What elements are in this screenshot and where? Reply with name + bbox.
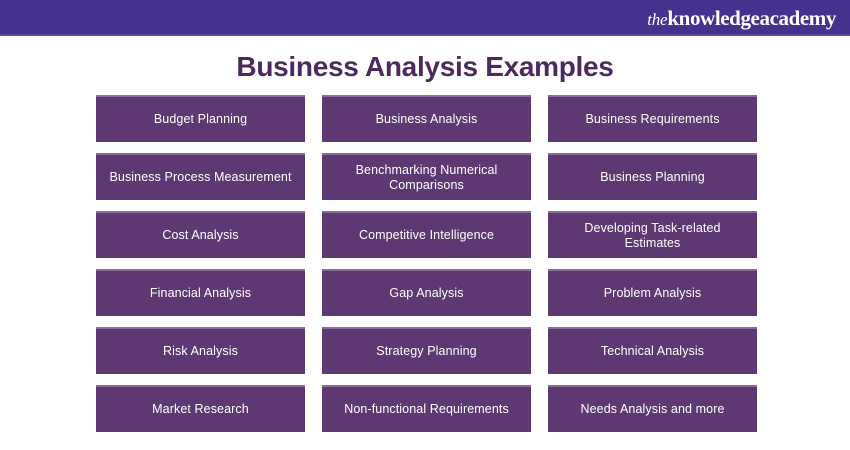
grid-cell: Gap Analysis bbox=[322, 269, 531, 316]
infographic-page: theknowledgeacademy Business Analysis Ex… bbox=[0, 0, 850, 450]
grid-row: Risk Analysis Strategy Planning Technica… bbox=[96, 327, 754, 374]
grid-cell-label: Needs Analysis and more bbox=[580, 402, 724, 417]
grid-cell-label: Budget Planning bbox=[154, 112, 247, 127]
grid-cell-label: Business Process Measurement bbox=[109, 170, 291, 185]
grid-cell-label: Cost Analysis bbox=[162, 228, 238, 243]
grid-cell: Business Requirements bbox=[548, 95, 757, 142]
page-title: Business Analysis Examples bbox=[0, 50, 850, 84]
header-bar: theknowledgeacademy bbox=[0, 0, 850, 36]
grid-cell: Market Research bbox=[96, 385, 305, 432]
brand-logo-word-academy: academy bbox=[759, 8, 836, 29]
grid-cell-label: Non-functional Requirements bbox=[344, 402, 509, 417]
grid-cell: Benchmarking Numerical Comparisons bbox=[322, 153, 531, 200]
grid-row: Budget Planning Business Analysis Busine… bbox=[96, 95, 754, 142]
grid-cell-label: Technical Analysis bbox=[601, 344, 704, 359]
grid-cell-label: Business Requirements bbox=[585, 112, 719, 127]
grid-cell: Needs Analysis and more bbox=[548, 385, 757, 432]
grid-cell-label: Competitive Intelligence bbox=[359, 228, 494, 243]
grid-cell: Risk Analysis bbox=[96, 327, 305, 374]
grid-cell: Problem Analysis bbox=[548, 269, 757, 316]
grid-cell-label: Developing Task-related Estimates bbox=[556, 221, 749, 251]
grid-cell: Business Process Measurement bbox=[96, 153, 305, 200]
brand-logo: theknowledgeacademy bbox=[647, 8, 836, 29]
examples-grid: Budget Planning Business Analysis Busine… bbox=[96, 95, 754, 432]
grid-cell: Business Analysis bbox=[322, 95, 531, 142]
grid-cell-label: Business Analysis bbox=[376, 112, 478, 127]
grid-cell-label: Business Planning bbox=[600, 170, 705, 185]
grid-cell: Financial Analysis bbox=[96, 269, 305, 316]
brand-logo-word-knowledge: knowledge bbox=[667, 8, 759, 29]
grid-cell: Cost Analysis bbox=[96, 211, 305, 258]
grid-cell-label: Financial Analysis bbox=[150, 286, 251, 301]
brand-logo-prefix: the bbox=[647, 11, 667, 28]
grid-cell-label: Benchmarking Numerical Comparisons bbox=[330, 163, 523, 193]
grid-row: Financial Analysis Gap Analysis Problem … bbox=[96, 269, 754, 316]
grid-row: Business Process Measurement Benchmarkin… bbox=[96, 153, 754, 200]
grid-cell-label: Problem Analysis bbox=[604, 286, 701, 301]
grid-row: Market Research Non-functional Requireme… bbox=[96, 385, 754, 432]
grid-cell: Developing Task-related Estimates bbox=[548, 211, 757, 258]
grid-cell: Strategy Planning bbox=[322, 327, 531, 374]
grid-cell-label: Market Research bbox=[152, 402, 249, 417]
grid-cell-label: Gap Analysis bbox=[389, 286, 463, 301]
grid-row: Cost Analysis Competitive Intelligence D… bbox=[96, 211, 754, 258]
grid-cell: Business Planning bbox=[548, 153, 757, 200]
grid-cell: Non-functional Requirements bbox=[322, 385, 531, 432]
grid-cell-label: Risk Analysis bbox=[163, 344, 238, 359]
grid-cell: Competitive Intelligence bbox=[322, 211, 531, 258]
grid-cell-label: Strategy Planning bbox=[376, 344, 476, 359]
grid-cell: Technical Analysis bbox=[548, 327, 757, 374]
grid-cell: Budget Planning bbox=[96, 95, 305, 142]
